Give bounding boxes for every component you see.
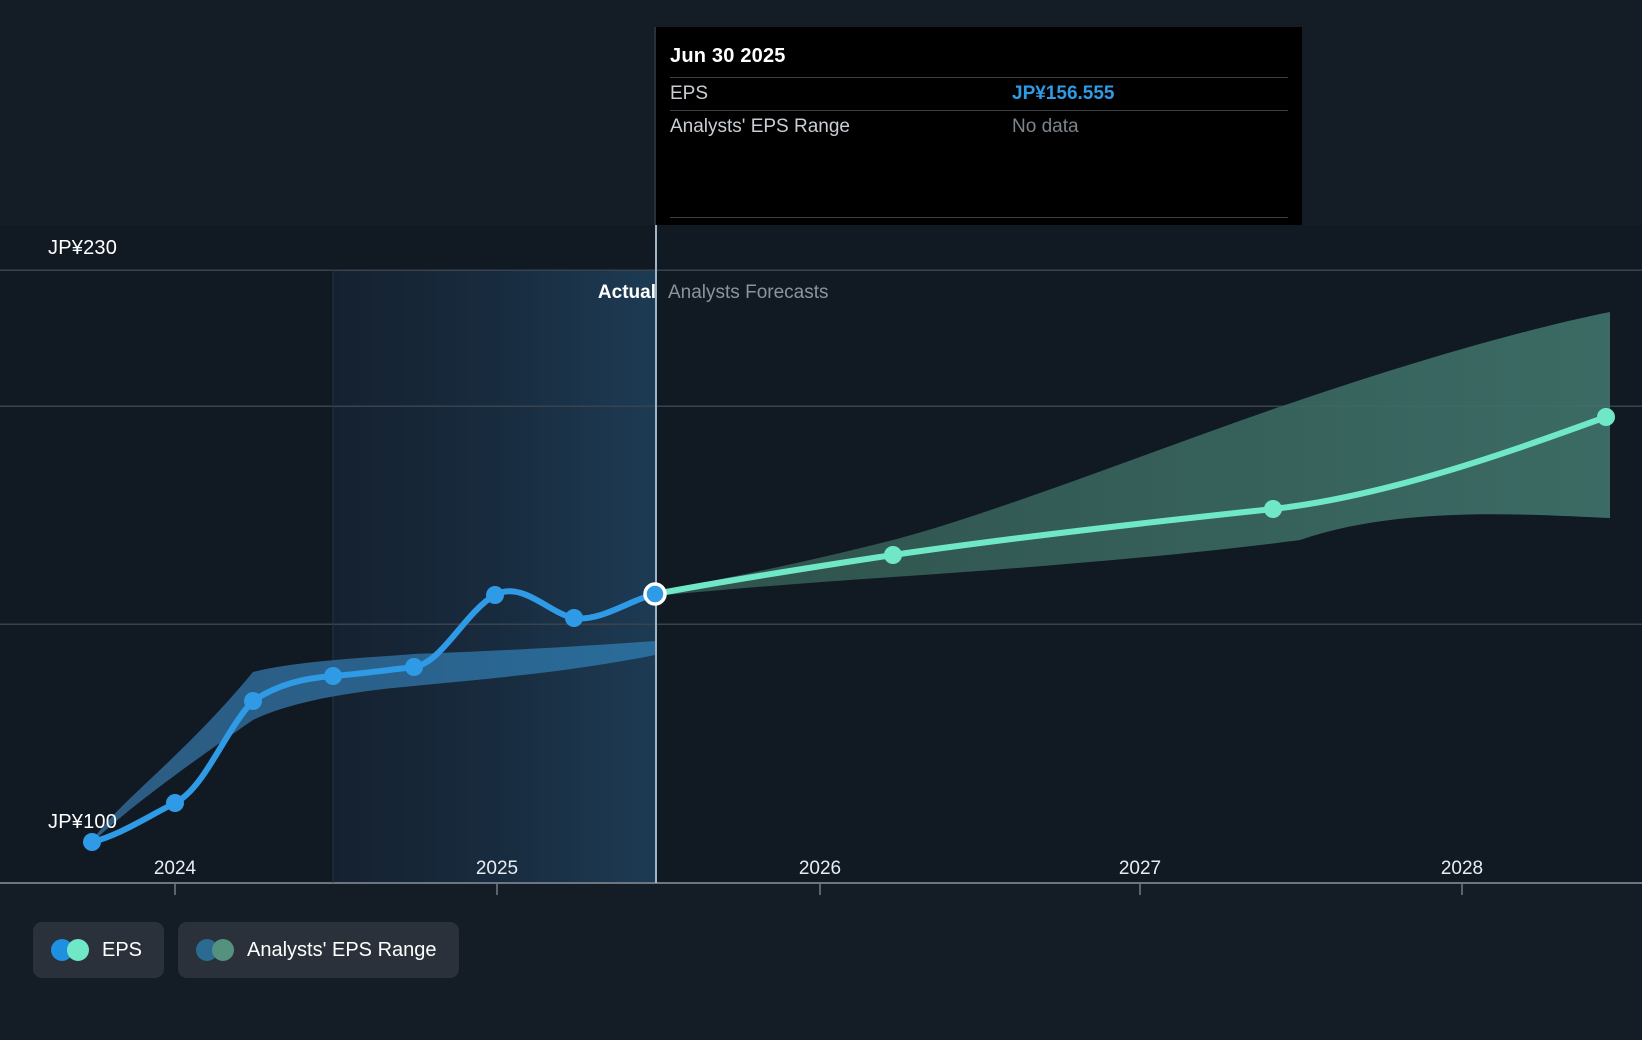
forecast-period-label: Analysts Forecasts xyxy=(668,282,829,304)
chart-legend: EPS Analysts' EPS Range xyxy=(33,922,459,978)
y-axis-bottom-label: JP¥100 xyxy=(48,811,117,834)
x-tick-label-2025: 2025 xyxy=(476,858,518,880)
x-tick-label-2028: 2028 xyxy=(1441,858,1483,880)
tooltip-value-eps: JP¥156.555 xyxy=(1012,83,1115,105)
analysts-range-swatch-icon xyxy=(196,939,234,961)
data-point[interactable] xyxy=(565,609,583,627)
data-point[interactable] xyxy=(244,692,262,710)
tooltip-divider xyxy=(670,217,1288,218)
eps-swatch-icon xyxy=(51,939,89,961)
y-axis-top-label: JP¥230 xyxy=(48,237,117,260)
data-point[interactable] xyxy=(83,833,101,851)
tooltip-value-range: No data xyxy=(1012,116,1079,138)
actual-period-label: Actual xyxy=(598,282,656,304)
data-point[interactable] xyxy=(166,794,184,812)
legend-label-eps: EPS xyxy=(102,939,142,962)
x-tick-label-2026: 2026 xyxy=(799,858,841,880)
tooltip-row-eps: EPS JP¥156.555 xyxy=(670,77,1288,110)
actual-highlight-region xyxy=(333,270,656,883)
tooltip-key-eps: EPS xyxy=(670,83,708,105)
hovered-data-point[interactable] xyxy=(645,584,665,604)
tooltip-row-range: Analysts' EPS Range No data xyxy=(670,110,1288,143)
data-point[interactable] xyxy=(324,667,342,685)
data-point[interactable] xyxy=(1264,500,1282,518)
legend-item-eps[interactable]: EPS xyxy=(33,922,164,978)
data-point[interactable] xyxy=(486,586,504,604)
data-point[interactable] xyxy=(405,658,423,676)
plot-bg xyxy=(0,225,1642,883)
eps-forecast-chart: JP¥230 JP¥100 2024 2025 2026 2027 2028 A… xyxy=(0,0,1642,1040)
tooltip-key-range: Analysts' EPS Range xyxy=(670,116,850,138)
x-tick-label-2024: 2024 xyxy=(154,858,196,880)
x-tick-label-2027: 2027 xyxy=(1119,858,1161,880)
chart-tooltip: Jun 30 2025 EPS JP¥156.555 Analysts' EPS… xyxy=(654,27,1302,225)
legend-item-analysts-eps-range[interactable]: Analysts' EPS Range xyxy=(178,922,458,978)
data-point[interactable] xyxy=(884,546,902,564)
tooltip-date: Jun 30 2025 xyxy=(670,45,786,68)
legend-label-analysts-eps-range: Analysts' EPS Range xyxy=(247,939,436,962)
data-point[interactable] xyxy=(1597,408,1615,426)
